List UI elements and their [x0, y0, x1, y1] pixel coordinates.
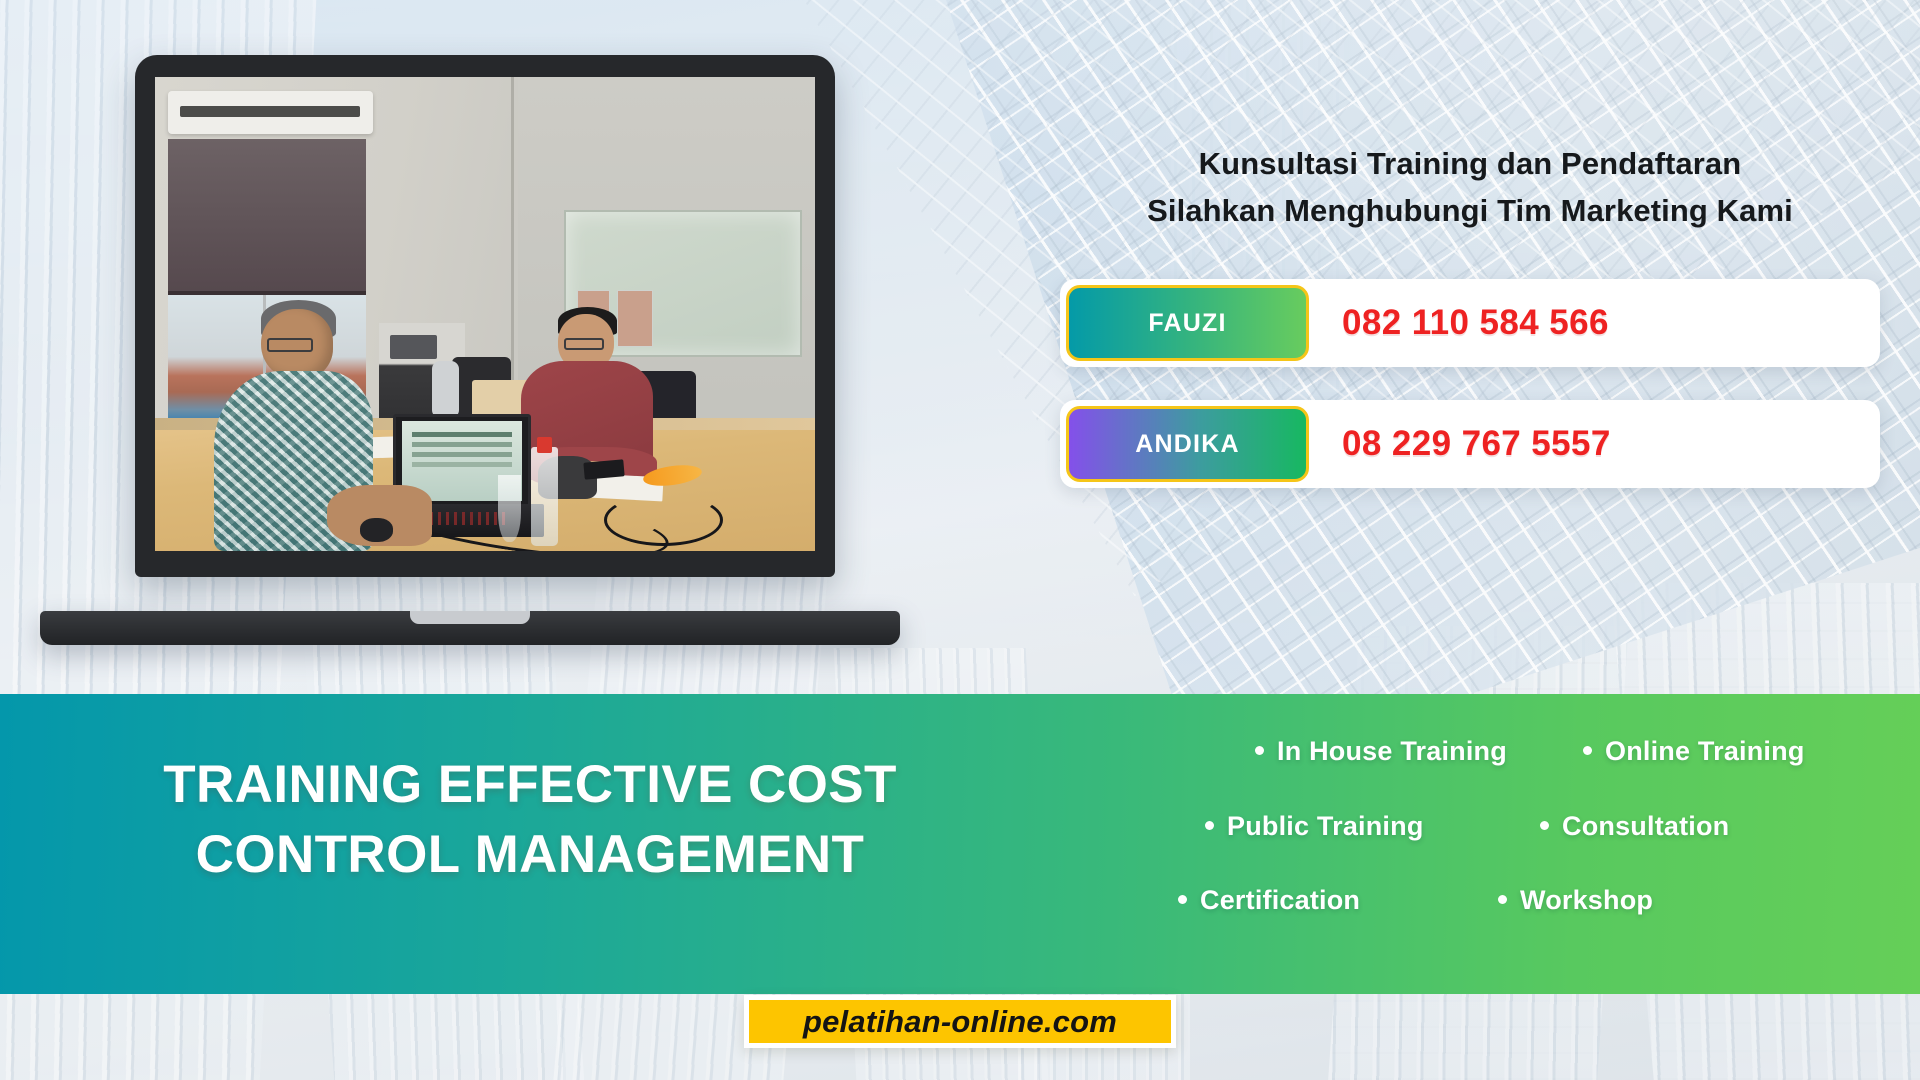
- contact-name-chip-fauzi: FAUZI: [1066, 285, 1309, 361]
- service-label: Certification: [1200, 885, 1360, 915]
- banner-title-line-2: CONTROL MANAGEMENT: [0, 820, 1060, 890]
- service-label: Public Training: [1227, 811, 1424, 841]
- contact-phone-andika[interactable]: 08 229 767 5557: [1342, 424, 1611, 464]
- service-item-in-house-training[interactable]: In House Training: [1255, 736, 1507, 767]
- photo-whiteboard-note-2: [617, 290, 653, 347]
- service-item-public-training[interactable]: Public Training: [1205, 811, 1424, 842]
- laptop-base: [40, 611, 900, 645]
- service-item-consultation[interactable]: Consultation: [1540, 811, 1729, 842]
- service-item-online-training[interactable]: Online Training: [1583, 736, 1805, 767]
- contact-card-list: FAUZI 082 110 584 566 ANDIKA 08 229 767 …: [1060, 279, 1880, 488]
- service-label: Online Training: [1605, 736, 1805, 766]
- service-label: In House Training: [1277, 736, 1507, 766]
- banner-title-line-1: TRAINING EFFECTIVE COST: [0, 750, 1060, 820]
- service-item-workshop[interactable]: Workshop: [1498, 885, 1653, 916]
- meeting-room-photo: [155, 77, 815, 551]
- service-label: Workshop: [1520, 885, 1653, 915]
- contact-card-andika[interactable]: ANDIKA 08 229 767 5557: [1060, 400, 1880, 488]
- laptop-lid: [135, 55, 835, 577]
- banner-title: TRAINING EFFECTIVE COST CONTROL MANAGEME…: [0, 750, 1060, 890]
- service-item-certification[interactable]: Certification: [1178, 885, 1360, 916]
- photo-air-conditioner: [168, 91, 373, 134]
- photo-person-2-glasses: [564, 338, 604, 350]
- laptop-mockup: [40, 55, 900, 655]
- photo-chair-3: [432, 361, 458, 418]
- contact-section: Kunsultasi Training dan Pendaftaran Sila…: [1060, 140, 1880, 521]
- bottom-banner: TRAINING EFFECTIVE COST CONTROL MANAGEME…: [0, 694, 1920, 994]
- service-label: Consultation: [1562, 811, 1729, 841]
- heading-line-1: Kunsultasi Training dan Pendaftaran: [1060, 140, 1880, 187]
- bullet-icon: [1178, 895, 1187, 904]
- photo-mouse: [360, 518, 393, 542]
- photo-person-1-glasses: [267, 338, 313, 352]
- photo-cable-2: [604, 494, 723, 546]
- bullet-icon: [1540, 821, 1549, 830]
- website-url-bar[interactable]: pelatihan-online.com: [744, 995, 1176, 1048]
- contact-name-chip-andika: ANDIKA: [1066, 406, 1309, 482]
- heading-line-2: Silahkan Menghubungi Tim Marketing Kami: [1060, 187, 1880, 234]
- photo-phone: [583, 459, 624, 479]
- bullet-icon: [1255, 746, 1264, 755]
- bullet-icon: [1205, 821, 1214, 830]
- contact-card-fauzi[interactable]: FAUZI 082 110 584 566: [1060, 279, 1880, 367]
- bullet-icon: [1498, 895, 1507, 904]
- laptop-screen: [155, 77, 815, 551]
- bullet-icon: [1583, 746, 1592, 755]
- laptop-base-notch: [410, 611, 530, 624]
- photo-window-blind: [168, 139, 366, 295]
- website-url-text: pelatihan-online.com: [803, 1004, 1117, 1040]
- contact-phone-fauzi[interactable]: 082 110 584 566: [1342, 303, 1609, 343]
